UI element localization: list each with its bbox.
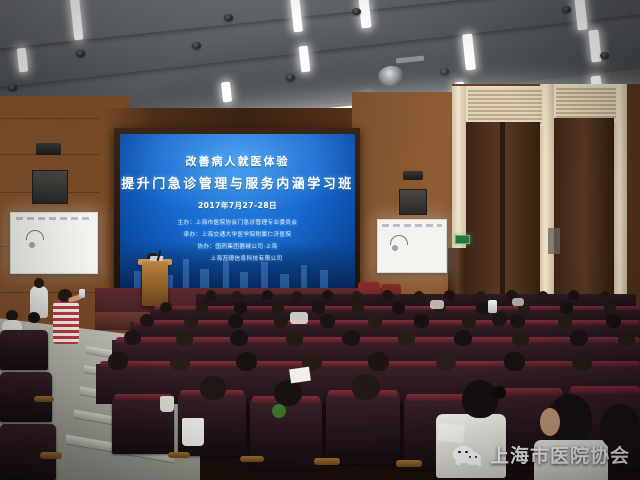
attendee-light-clothing [430, 300, 444, 309]
attendee-head [398, 331, 415, 346]
seat-armrest [240, 456, 264, 462]
screen-organizer-line: 承办：上海交通大学医学院附属仁济医院 [120, 230, 355, 238]
slide-header-lines [382, 224, 442, 227]
attendee-head [342, 330, 360, 346]
wall-plaque [548, 228, 560, 254]
ventilation-grille [554, 84, 618, 122]
attendee-head [558, 315, 572, 328]
smartphone-icon[interactable] [488, 300, 497, 313]
right-projection-screen [377, 219, 447, 273]
attendee-head [274, 315, 288, 328]
left-projection-screen [10, 212, 98, 274]
attendee-head [604, 303, 616, 314]
slide-arc-shape [26, 230, 44, 240]
wechat-logo-icon [453, 443, 483, 467]
downlight-icon [76, 50, 85, 57]
slide-dot-shape [29, 242, 35, 248]
attendee-head [368, 315, 382, 328]
attendee-head [368, 352, 389, 371]
attendee-head [414, 314, 429, 328]
right-wall-speaker-icon [399, 189, 427, 215]
slide-arc-shape [390, 235, 408, 245]
slide-dot-shape [392, 245, 398, 251]
seat-armrest [168, 452, 190, 458]
handout-paper [289, 367, 311, 384]
attendee-head [462, 315, 476, 328]
attendee-head [232, 291, 242, 300]
screen-title-line2: 提升门急诊管理与服务内涵学习班 [120, 173, 355, 192]
attendee-head [236, 352, 257, 371]
attendee-head [538, 291, 548, 300]
watermark-text: 上海市医院协会 [490, 441, 630, 468]
attendee-head [414, 291, 424, 300]
left-wall-speaker-icon [32, 170, 68, 204]
attendee-head [140, 314, 154, 327]
attendee-head [196, 303, 208, 314]
left-projector-icon [36, 143, 61, 155]
seat-armrest [40, 452, 62, 459]
attendee-head [352, 303, 364, 314]
conference-hall-photo: 改善病人就医体验 提升门急诊管理与服务内涵学习班 2017年7月27-28日 主… [0, 0, 640, 480]
attendee-head [476, 291, 486, 300]
downlight-icon [8, 84, 17, 91]
attendee-head [234, 302, 247, 314]
attendee-head [504, 352, 525, 371]
seat [0, 330, 48, 370]
attendee-head [274, 380, 302, 406]
screen-organizer-line: 协办：国药集团器械公司·上海 [120, 242, 355, 250]
attendee-head [272, 303, 284, 314]
screen-title-line1: 改善病人就医体验 [120, 153, 355, 169]
right-projector-icon [403, 171, 423, 180]
attendee-head [108, 352, 128, 370]
seat-headrest [570, 386, 640, 394]
attendee-head [320, 314, 335, 328]
slide-header-lines [16, 217, 92, 220]
photographer-phone-icon[interactable] [79, 289, 85, 298]
side-door[interactable] [554, 118, 614, 318]
attendee-head [510, 314, 525, 328]
downlight-icon [440, 68, 449, 75]
screen-organizer-line: 主办：上海市医院协会门急诊管理专业委员会 [120, 218, 355, 226]
attendee-head [262, 290, 273, 300]
attendee-head [392, 302, 405, 314]
downlight-icon [352, 8, 361, 15]
attendee-head [436, 353, 456, 371]
attendee-head [462, 380, 498, 418]
ventilation-grille [466, 86, 544, 126]
downlight-icon [286, 74, 295, 81]
attendee-head [206, 290, 216, 300]
attendee-head [286, 331, 303, 346]
seat-back-row [116, 337, 640, 343]
attendee-head [560, 302, 573, 314]
tote-bag [160, 396, 174, 412]
attendee-head [170, 353, 190, 371]
tote-bag [182, 418, 204, 446]
attendee-hair-bun [492, 386, 506, 399]
attendee-head [352, 374, 380, 400]
attendee-head [444, 290, 455, 300]
downlight-icon [192, 42, 201, 49]
seat-armrest [396, 460, 422, 467]
exit-sign-icon [455, 235, 470, 244]
attendee-head [200, 376, 226, 400]
seat-armrest [314, 458, 340, 465]
attendee-head [176, 331, 193, 346]
attendee-head [184, 315, 198, 328]
seat-armrest [34, 396, 54, 402]
door-divider [500, 122, 505, 322]
attendee-head [606, 314, 621, 328]
attendee-head [568, 290, 579, 300]
attendee-head [292, 291, 302, 300]
attendee-head [454, 330, 472, 346]
bystander-head [34, 278, 44, 288]
attendee-head [570, 330, 588, 346]
attendee-head [312, 302, 325, 314]
attendee-head [572, 353, 592, 371]
seat [326, 392, 400, 464]
attendee-head [230, 330, 248, 346]
photographer-dress [53, 300, 79, 344]
attendee-head [228, 314, 243, 328]
attendee-head [618, 331, 635, 346]
screen-date: 2017年7月27-28日 [120, 200, 355, 211]
green-object [272, 404, 286, 418]
watermark: 上海市医院协会 [453, 441, 630, 468]
attendee-head [492, 312, 507, 326]
attendee-head [352, 291, 362, 300]
attendee-light-clothing [512, 298, 524, 306]
podium [142, 262, 168, 306]
attendee-head [322, 290, 333, 300]
downlight-icon [562, 6, 571, 13]
attendee-head [28, 312, 40, 323]
downlight-icon [600, 52, 609, 59]
ceiling-light-strip [221, 82, 232, 103]
attendee-face [540, 408, 560, 436]
attendee-light-clothing [290, 312, 308, 324]
attendee-head [512, 331, 529, 346]
attendee-head [160, 302, 172, 313]
downlight-icon [224, 14, 233, 21]
attendee-head [600, 291, 610, 300]
attendee-head [382, 290, 393, 300]
attendee-head [124, 330, 141, 345]
